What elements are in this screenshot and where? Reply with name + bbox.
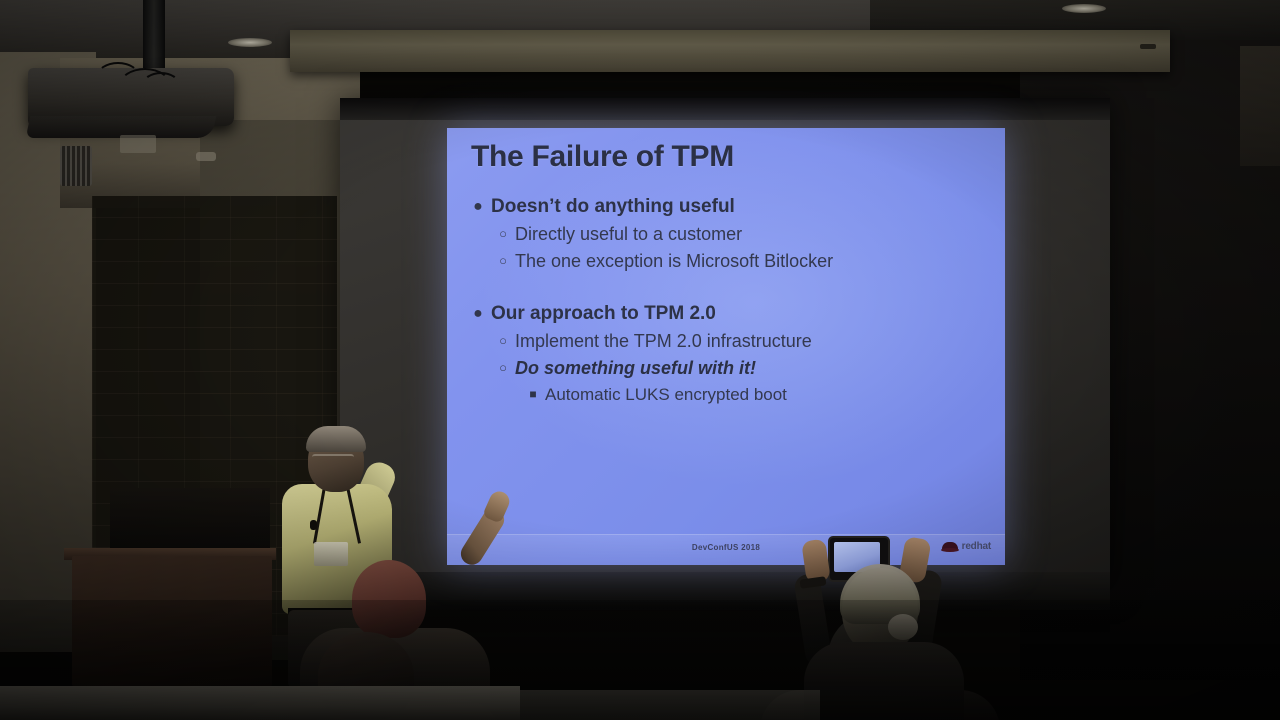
front-table-right bbox=[520, 690, 820, 720]
projector-vent bbox=[60, 146, 92, 186]
bullet-text: Do something useful with it! bbox=[515, 355, 756, 381]
bullet-text: Our approach to TPM 2.0 bbox=[491, 301, 716, 327]
bullet-spacer bbox=[465, 275, 995, 301]
bullet-level3: ■ Automatic LUKS encrypted boot bbox=[465, 382, 995, 407]
slide-title: The Failure of TPM bbox=[471, 140, 734, 174]
projector-pole-mount bbox=[143, 0, 165, 74]
conference-room-photo: The Failure of TPM ● Doesn’t do anything… bbox=[0, 0, 1280, 720]
smoke-detector-icon bbox=[196, 152, 216, 161]
audience-member-bald-head bbox=[352, 560, 426, 638]
wall-right-panel bbox=[1240, 46, 1280, 166]
bullet-marker-circle: ○ bbox=[491, 221, 515, 247]
presenter-hair bbox=[306, 426, 366, 452]
bullet-marker-square: ■ bbox=[521, 382, 545, 407]
projected-slide: The Failure of TPM ● Doesn’t do anything… bbox=[447, 128, 1005, 565]
photographer-hair-bun bbox=[888, 614, 918, 640]
wall-speaker bbox=[110, 488, 270, 556]
bullet-text: Directly useful to a customer bbox=[515, 221, 742, 247]
projection-screen-valance bbox=[290, 30, 1170, 72]
slide-body: ● Doesn’t do anything useful ○ Directly … bbox=[465, 194, 995, 407]
bullet-marker-circle: ○ bbox=[491, 248, 515, 274]
bullet-marker-disc: ● bbox=[465, 194, 491, 220]
bullet-level1: ● Doesn’t do anything useful bbox=[465, 194, 995, 220]
presenter-lapel-mic bbox=[310, 520, 317, 530]
ceiling-light-icon bbox=[1062, 4, 1106, 13]
valance-mount-bracket bbox=[1140, 44, 1156, 49]
bullet-level1: ● Our approach to TPM 2.0 bbox=[465, 301, 995, 327]
bullet-text: The one exception is Microsoft Bitlocker bbox=[515, 248, 833, 274]
lectern bbox=[72, 556, 272, 686]
presenter-badge bbox=[314, 542, 348, 566]
projector-label bbox=[120, 135, 156, 153]
bullet-text: Automatic LUKS encrypted boot bbox=[545, 382, 787, 407]
bullet-text: Doesn’t do anything useful bbox=[491, 194, 735, 220]
photographer-torso bbox=[804, 642, 964, 720]
presenter-glasses bbox=[312, 454, 354, 463]
screen-top-shadow bbox=[340, 98, 1110, 120]
bullet-level2: ○ Directly useful to a customer bbox=[465, 221, 995, 247]
bullet-marker-circle: ○ bbox=[491, 355, 515, 381]
bullet-text: Implement the TPM 2.0 infrastructure bbox=[515, 328, 812, 354]
screen-bottom-shadow bbox=[340, 572, 1110, 610]
bullet-marker-disc: ● bbox=[465, 301, 491, 327]
ceiling-light-icon bbox=[228, 38, 272, 47]
bullet-level2-emphasis: ○ Do something useful with it! bbox=[465, 355, 995, 381]
front-table bbox=[0, 686, 520, 720]
bullet-marker-circle: ○ bbox=[491, 328, 515, 354]
projector-cable bbox=[142, 72, 180, 98]
bullet-level2: ○ Implement the TPM 2.0 infrastructure bbox=[465, 328, 995, 354]
bullet-level2: ○ The one exception is Microsoft Bitlock… bbox=[465, 248, 995, 274]
